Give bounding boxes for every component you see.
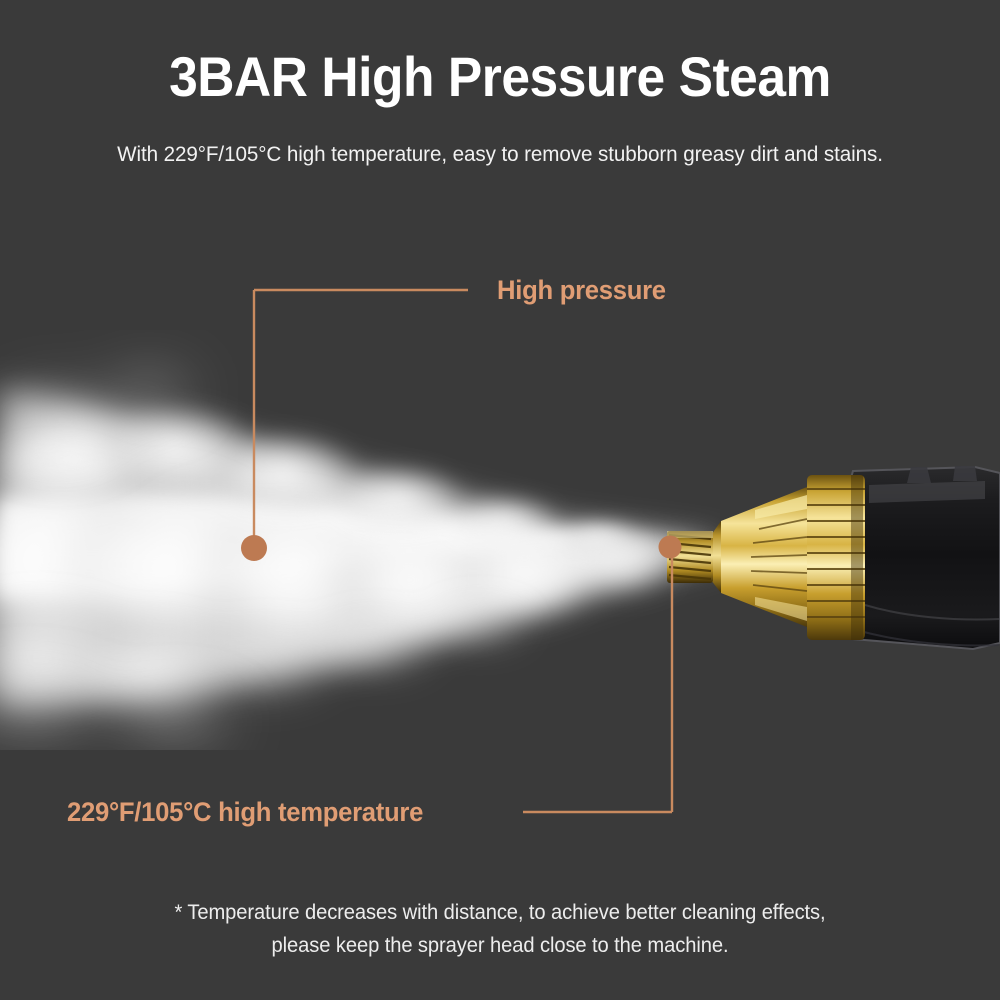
callout-label-high-pressure: High pressure xyxy=(497,275,666,306)
brass-threaded-tip xyxy=(667,531,713,583)
page-subtitle: With 229°F/105°C high temperature, easy … xyxy=(20,142,980,167)
callout-label-temperature: 229°F/105°C high temperature xyxy=(67,797,423,828)
callout-line-high-pressure xyxy=(254,290,468,540)
footnote-line-1: * Temperature decreases with distance, t… xyxy=(20,896,980,929)
callout-line-temperature xyxy=(523,556,672,812)
knurled-brass-collar xyxy=(807,475,865,640)
footnote: * Temperature decreases with distance, t… xyxy=(20,896,980,962)
marker-dot-temperature xyxy=(659,536,682,559)
marker-dot-high-pressure xyxy=(241,535,267,561)
page-title: 3BAR High Pressure Steam xyxy=(40,48,960,107)
steam-plume xyxy=(0,330,720,750)
dark-housing xyxy=(844,466,1000,649)
steam-plume-graphic xyxy=(0,330,720,750)
product-feature-image: 3BAR High Pressure Steam With 229°F/105°… xyxy=(0,0,1000,1000)
sprayer-graphic xyxy=(655,455,1000,660)
brass-taper xyxy=(707,487,807,627)
footnote-line-2: please keep the sprayer head close to th… xyxy=(20,929,980,962)
steam-sprayer-nozzle xyxy=(655,455,1000,660)
